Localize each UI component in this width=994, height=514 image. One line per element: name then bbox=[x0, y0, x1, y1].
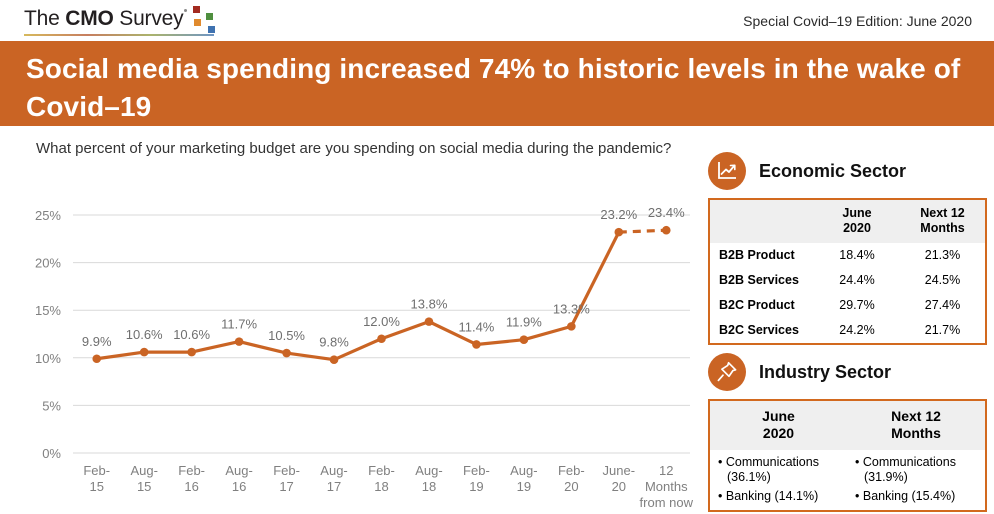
data-point-marker bbox=[567, 322, 576, 331]
economic-sector-table: June 2020 Next 12 Months B2B Product 18.… bbox=[708, 198, 987, 345]
list-item: • Banking (14.1%) bbox=[718, 489, 841, 504]
title-banner: Social media spending increased 74% to h… bbox=[0, 41, 994, 126]
cmo-survey-logo: The CMO Survey bbox=[24, 6, 222, 36]
cell-next-12-months-items: • Communications (31.9%) • Banking (15.4… bbox=[847, 450, 986, 511]
row-label: B2C Services bbox=[709, 318, 814, 344]
data-point-label: 23.4% bbox=[648, 205, 685, 220]
industry-sector-header: Industry Sector bbox=[708, 351, 985, 393]
data-point-marker bbox=[282, 349, 291, 358]
data-point-label: 12.0% bbox=[363, 314, 400, 329]
question-text: What percent of your marketing budget ar… bbox=[36, 138, 676, 160]
cell-june-2020-items: • Communications (36.1%) • Banking (14.1… bbox=[709, 450, 847, 511]
column-header-next-12-months: Next 12 Months bbox=[847, 400, 986, 450]
column-header-june-2020: June 2020 bbox=[709, 400, 847, 450]
table-row: • Communications (36.1%) • Banking (14.1… bbox=[709, 450, 986, 511]
data-point-marker bbox=[187, 348, 196, 357]
logo-dot bbox=[184, 9, 187, 12]
cell-next-12-months: 24.5% bbox=[900, 268, 986, 293]
data-point-label: 10.6% bbox=[126, 327, 163, 342]
data-point-label: 9.8% bbox=[319, 335, 349, 350]
page-title: Social media spending increased 74% to h… bbox=[26, 50, 968, 126]
data-point-marker bbox=[377, 334, 386, 343]
x-axis-tick-label: Aug-16 bbox=[225, 463, 252, 494]
chart-line-forecast bbox=[619, 230, 666, 232]
economic-sector-header: Economic Sector bbox=[708, 150, 985, 192]
industry-sector-title: Industry Sector bbox=[759, 362, 891, 383]
data-point-label: 10.5% bbox=[268, 328, 305, 343]
data-point-marker bbox=[425, 317, 434, 326]
cell-next-12-months: 21.3% bbox=[900, 243, 986, 268]
table-header-row: June 2020 Next 12 Months bbox=[709, 199, 986, 243]
logo-square-blue bbox=[208, 26, 215, 33]
x-axis-tick-label: Feb-17 bbox=[273, 463, 300, 494]
list-item: • Communications (36.1%) bbox=[718, 455, 841, 485]
logo-square-red bbox=[193, 6, 200, 13]
data-point-label: 10.6% bbox=[173, 327, 210, 342]
y-axis-tick-label: 0% bbox=[42, 446, 61, 461]
top-bar: The CMO Survey Special Covid–19 Edition:… bbox=[0, 0, 994, 41]
y-axis-tick-label: 5% bbox=[42, 398, 61, 413]
x-axis-tick-label: Feb-20 bbox=[558, 463, 585, 494]
list-item: • Banking (15.4%) bbox=[855, 489, 979, 504]
line-chart-icon bbox=[708, 152, 746, 190]
data-point-marker bbox=[92, 354, 101, 363]
data-point-marker bbox=[662, 226, 671, 235]
x-axis-tick-label: Aug-18 bbox=[415, 463, 442, 494]
logo-squares-mark bbox=[184, 6, 222, 34]
column-header-next-12-months: Next 12 Months bbox=[900, 199, 986, 243]
list-item: • Communications (31.9%) bbox=[855, 455, 979, 485]
data-point-label: 11.4% bbox=[458, 319, 494, 334]
y-axis-tick-label: 10% bbox=[35, 351, 61, 366]
row-label: B2C Product bbox=[709, 293, 814, 318]
column-header-blank bbox=[709, 199, 814, 243]
data-point-marker bbox=[615, 228, 624, 237]
data-point-marker bbox=[520, 335, 529, 344]
x-axis-tick-label: 12Monthsfrom now bbox=[640, 463, 694, 510]
chart-canvas: 0%5%10%15%20%25%9.9%Feb-1510.6%Aug-1510.… bbox=[0, 196, 700, 514]
logo-underline bbox=[24, 34, 214, 36]
data-point-marker bbox=[140, 348, 149, 357]
data-point-label: 11.7% bbox=[221, 317, 257, 332]
x-axis-tick-label: Aug-19 bbox=[510, 463, 537, 494]
cell-next-12-months: 21.7% bbox=[900, 318, 986, 344]
cell-june-2020: 29.7% bbox=[814, 293, 900, 318]
industry-sector-panel: Industry Sector June 2020 Next 12 Months… bbox=[708, 351, 985, 512]
data-point-label: 13.8% bbox=[411, 297, 448, 312]
table-row: B2C Product 29.7% 27.4% bbox=[709, 293, 986, 318]
x-axis-tick-label: Aug-17 bbox=[320, 463, 347, 494]
industry-sector-table: June 2020 Next 12 Months • Communication… bbox=[708, 399, 987, 512]
cell-june-2020: 24.4% bbox=[814, 268, 900, 293]
data-point-label: 13.3% bbox=[553, 301, 590, 316]
economic-sector-panel: Economic Sector June 2020 Next 12 Months… bbox=[708, 150, 985, 345]
table-row: B2B Services 24.4% 24.5% bbox=[709, 268, 986, 293]
x-axis-tick-label: Feb-15 bbox=[83, 463, 110, 494]
data-point-marker bbox=[235, 337, 244, 346]
y-axis-tick-label: 15% bbox=[35, 303, 61, 318]
y-axis-tick-label: 25% bbox=[35, 208, 61, 223]
column-header-june-2020: June 2020 bbox=[814, 199, 900, 243]
cell-june-2020: 24.2% bbox=[814, 318, 900, 344]
data-point-label: 11.9% bbox=[506, 315, 542, 330]
table-row: B2C Services 24.2% 21.7% bbox=[709, 318, 986, 344]
data-point-label: 9.9% bbox=[82, 334, 112, 349]
x-axis-tick-label: Feb-16 bbox=[178, 463, 205, 494]
x-axis-tick-label: June-20 bbox=[603, 463, 636, 494]
data-point-marker bbox=[472, 340, 481, 349]
x-axis-tick-label: Feb-19 bbox=[463, 463, 490, 494]
x-axis-tick-label: Feb-18 bbox=[368, 463, 395, 494]
data-point-label: 23.2% bbox=[600, 207, 637, 222]
pushpin-icon bbox=[708, 353, 746, 391]
data-point-marker bbox=[330, 355, 339, 364]
economic-sector-title: Economic Sector bbox=[759, 161, 906, 182]
logo-square-green bbox=[206, 13, 213, 20]
table-header-row: June 2020 Next 12 Months bbox=[709, 400, 986, 450]
y-axis-tick-label: 20% bbox=[35, 256, 61, 271]
logo-wordmark: The CMO Survey bbox=[24, 6, 183, 32]
table-row: B2B Product 18.4% 21.3% bbox=[709, 243, 986, 268]
logo-square-orange bbox=[194, 19, 201, 26]
cell-next-12-months: 27.4% bbox=[900, 293, 986, 318]
social-media-spending-line-chart: 0%5%10%15%20%25%9.9%Feb-1510.6%Aug-1510.… bbox=[0, 196, 700, 514]
x-axis-tick-label: Aug-15 bbox=[130, 463, 157, 494]
row-label: B2B Product bbox=[709, 243, 814, 268]
row-label: B2B Services bbox=[709, 268, 814, 293]
edition-label: Special Covid–19 Edition: June 2020 bbox=[743, 13, 972, 29]
cell-june-2020: 18.4% bbox=[814, 243, 900, 268]
